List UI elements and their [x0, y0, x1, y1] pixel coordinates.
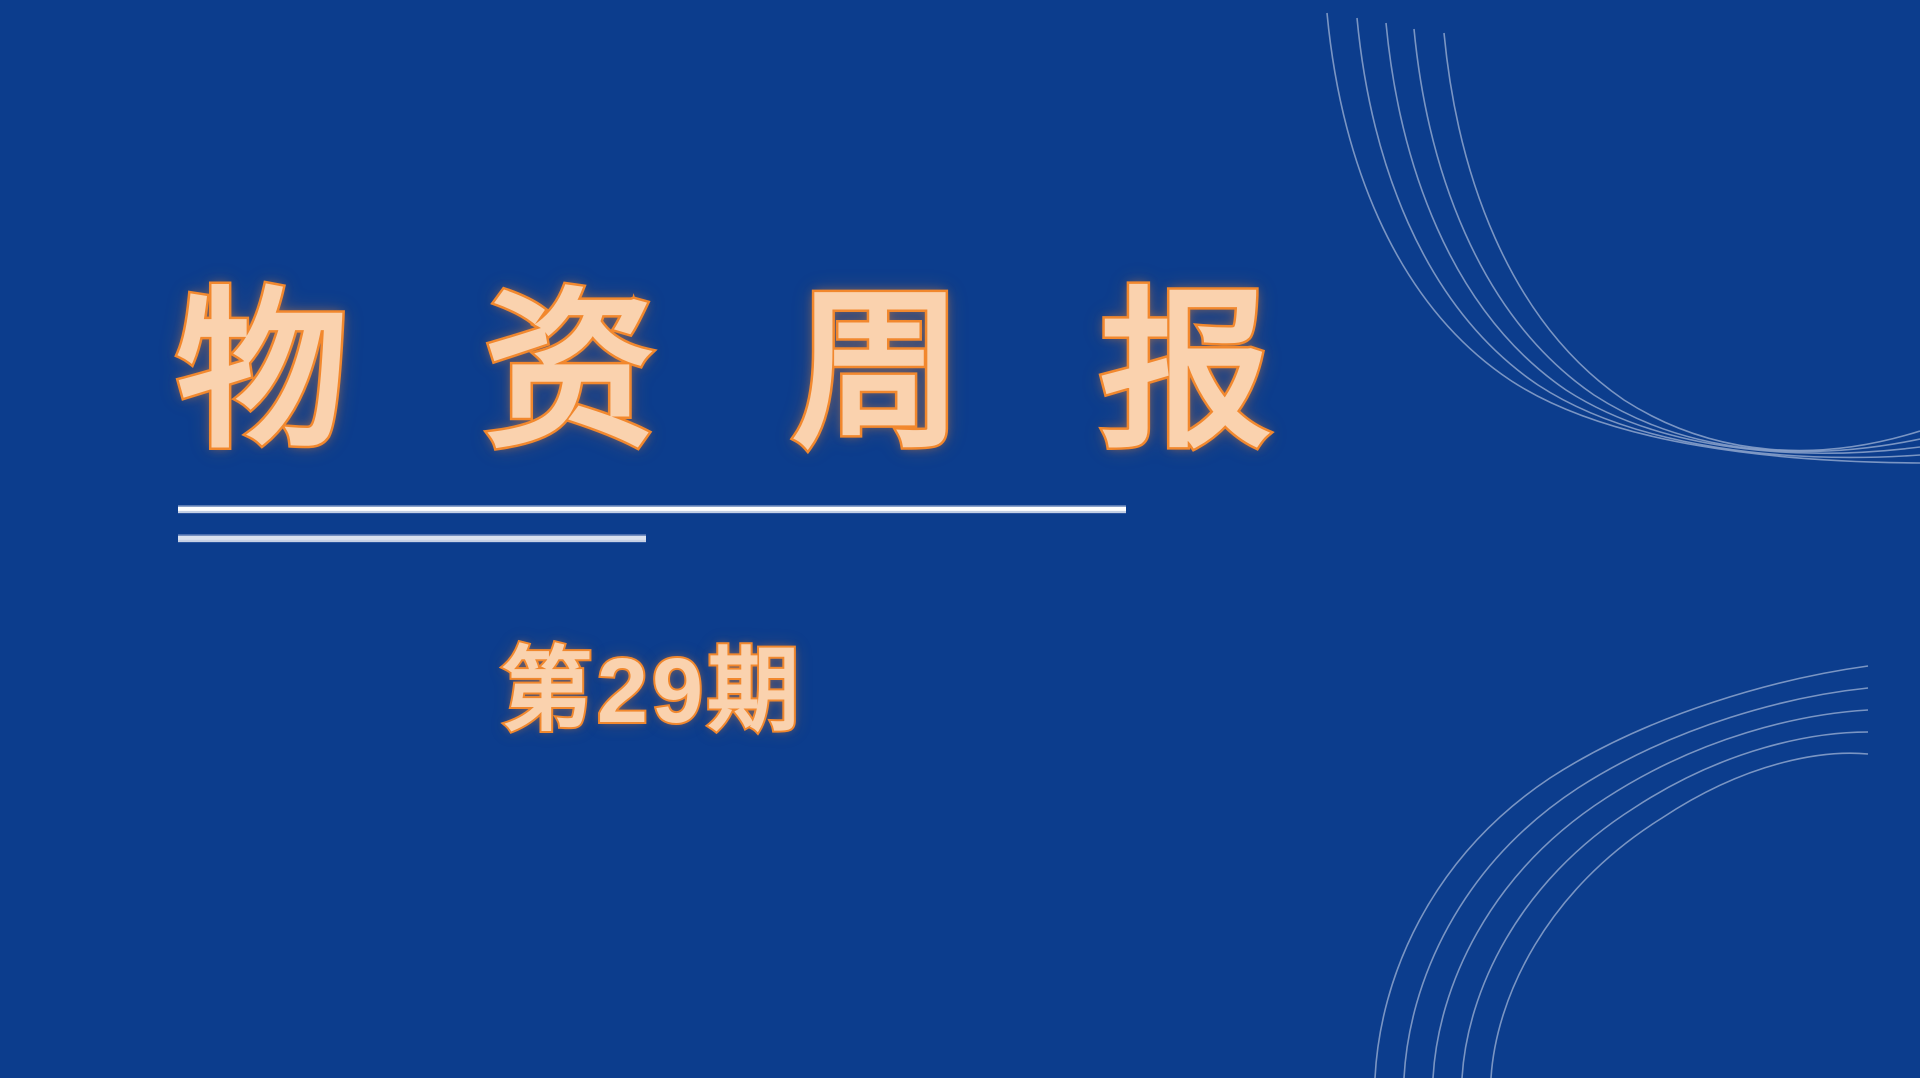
wave-lines-top-right-icon	[1280, 0, 1920, 470]
deco-curve	[1444, 33, 1920, 450]
page-title: 物 资 周 报	[176, 286, 1176, 458]
deco-curve	[1386, 23, 1920, 453]
deco-curve	[1327, 13, 1920, 463]
deco-curve	[1414, 29, 1920, 451]
deco-curve	[1433, 710, 1868, 1078]
page-subtitle: 第29期	[501, 640, 803, 743]
deco-curve	[1462, 732, 1868, 1078]
deco-curve	[1404, 688, 1868, 1078]
title-block: 物 资 周 报	[176, 286, 1176, 458]
deco-curve	[1491, 753, 1868, 1078]
wave-lines-bottom-right-icon	[1280, 608, 1920, 1078]
title-rule-primary	[178, 505, 1126, 514]
subtitle-block: 第29期	[178, 640, 1126, 743]
title-rule-secondary	[178, 534, 646, 543]
title-slide: 物 资 周 报 第29期	[0, 0, 1920, 1078]
deco-curve	[1375, 666, 1868, 1078]
deco-curve	[1357, 18, 1920, 457]
